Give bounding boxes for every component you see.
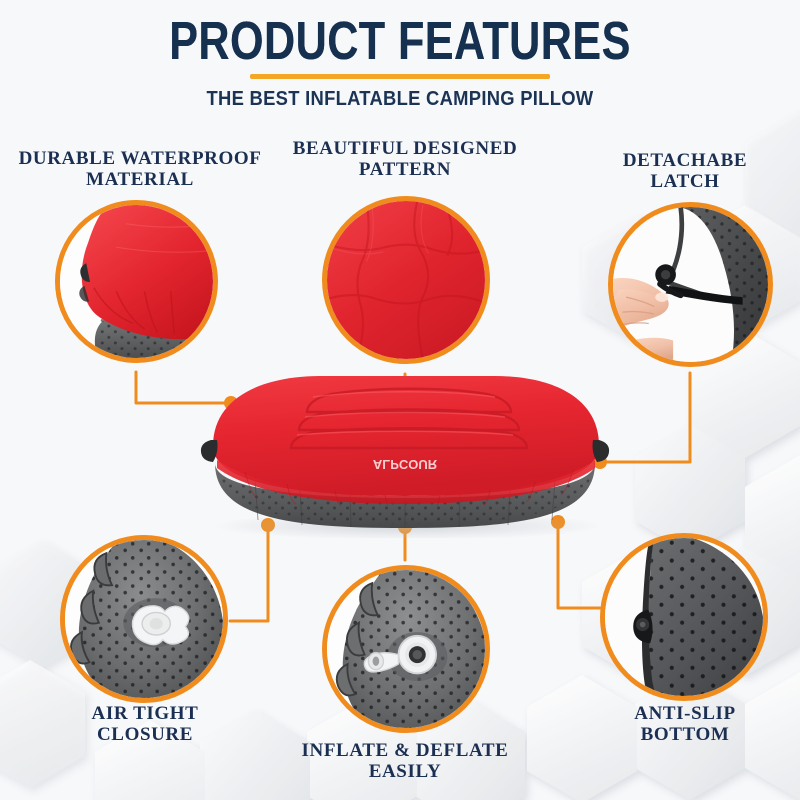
photo-detachable-latch: [613, 207, 768, 362]
label-beautiful-designed-pattern: BEAUTIFUL DESIGNED PATTERN: [280, 138, 530, 181]
photo-beautiful-designed-pattern: [327, 201, 485, 359]
connector-air-tight-closure: [230, 527, 268, 621]
title-divider-rule: [250, 74, 550, 79]
label-inflate-deflate-easily: INFLATE & DEFLATE EASILY: [280, 740, 530, 783]
photo-inflate-deflate-easily: [327, 570, 485, 728]
page-subtitle: THE BEST INFLATABLE CAMPING PILLOW: [32, 88, 768, 111]
label-anti-slip-bottom: ANTI-SLIP BOTTOM: [565, 703, 800, 746]
infographic-canvas: PRODUCT FEATURES THE BEST INFLATABLE CAM…: [0, 0, 800, 800]
callout-circle-detachable-latch: [608, 202, 773, 367]
callout-circle-air-tight-closure: [60, 535, 228, 703]
photo-air-tight-closure: [65, 540, 223, 698]
photo-anti-slip-bottom: [605, 538, 763, 696]
label-durable-waterproof-material: DURABLE WATERPROOF MATERIAL: [10, 148, 270, 191]
label-air-tight-closure: AIR TIGHT CLOSURE: [20, 703, 270, 746]
photo-durable-waterproof-material: [60, 205, 213, 358]
pillow-top-red: [213, 376, 599, 496]
label-detachable-latch: DETACHABE LATCH: [565, 150, 800, 193]
callout-circle-inflate-deflate-easily: [322, 565, 490, 733]
product-brand-text: ALPCOUR: [373, 457, 438, 472]
callout-circle-beautiful-designed-pattern: [322, 196, 490, 364]
product-image-pillow: ALPCOUR: [195, 368, 615, 538]
callout-circle-durable-waterproof-material: [55, 200, 218, 363]
callout-circle-anti-slip-bottom: [600, 533, 768, 701]
pillow-latch-left: [201, 440, 218, 462]
header: PRODUCT FEATURES THE BEST INFLATABLE CAM…: [0, 0, 800, 111]
page-title: PRODUCT FEATURES: [80, 14, 720, 68]
